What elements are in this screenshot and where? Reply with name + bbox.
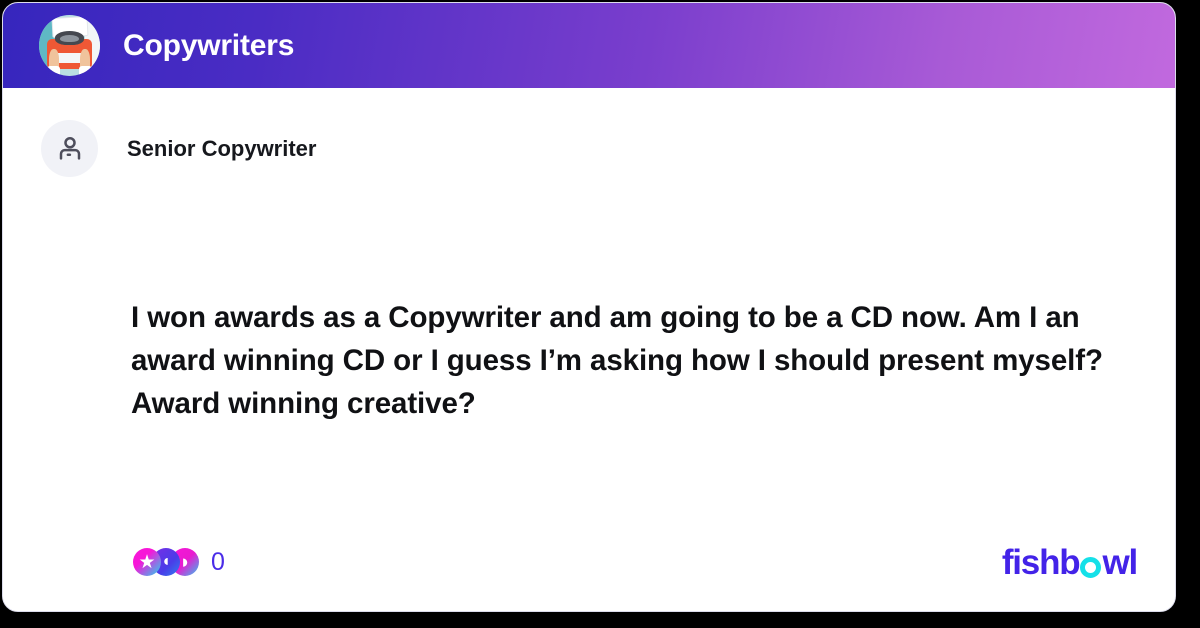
star-reaction-glyph: ★ [138, 553, 155, 572]
person-icon [55, 134, 85, 164]
avatar-sleeve-right [79, 66, 92, 76]
avatar-sleeve-left [47, 66, 60, 76]
bowl-title: Copywriters [123, 29, 294, 63]
star-reaction-icon[interactable]: ★ [133, 548, 161, 576]
fishbowl-logo-ring-icon [1080, 557, 1101, 578]
post-body: Senior Copywriter I won awards as a Copy… [3, 88, 1175, 611]
post-footer: ★ ◖ ◗ 0 fishbwl [3, 539, 1175, 585]
fishbowl-logo-part-two: wl [1102, 545, 1137, 580]
avatar [41, 120, 98, 177]
reactions-group[interactable]: ★ ◖ ◗ 0 [133, 548, 225, 577]
post-card: Copywriters Senior Copywriter I won awar… [2, 2, 1176, 612]
heart-reaction-glyph: ◗ [179, 553, 190, 572]
reaction-stack[interactable]: ★ ◖ ◗ [133, 548, 199, 576]
fishbowl-logo[interactable]: fishbwl [1002, 545, 1137, 580]
typewriter-illustration-icon [39, 15, 100, 76]
post-text: I won awards as a Copywriter and am goin… [131, 296, 1133, 425]
screenshot-root: Copywriters Senior Copywriter I won awar… [0, 0, 1200, 628]
fishbowl-logo-part-one: fishb [1002, 545, 1080, 580]
reaction-count: 0 [211, 548, 225, 577]
avatar-typewriter-carriage [55, 31, 84, 44]
author-title: Senior Copywriter [127, 136, 316, 162]
bowl-header[interactable]: Copywriters [3, 3, 1175, 88]
author-row[interactable]: Senior Copywriter [41, 120, 316, 177]
like-reaction-glyph: ◖ [161, 554, 171, 570]
